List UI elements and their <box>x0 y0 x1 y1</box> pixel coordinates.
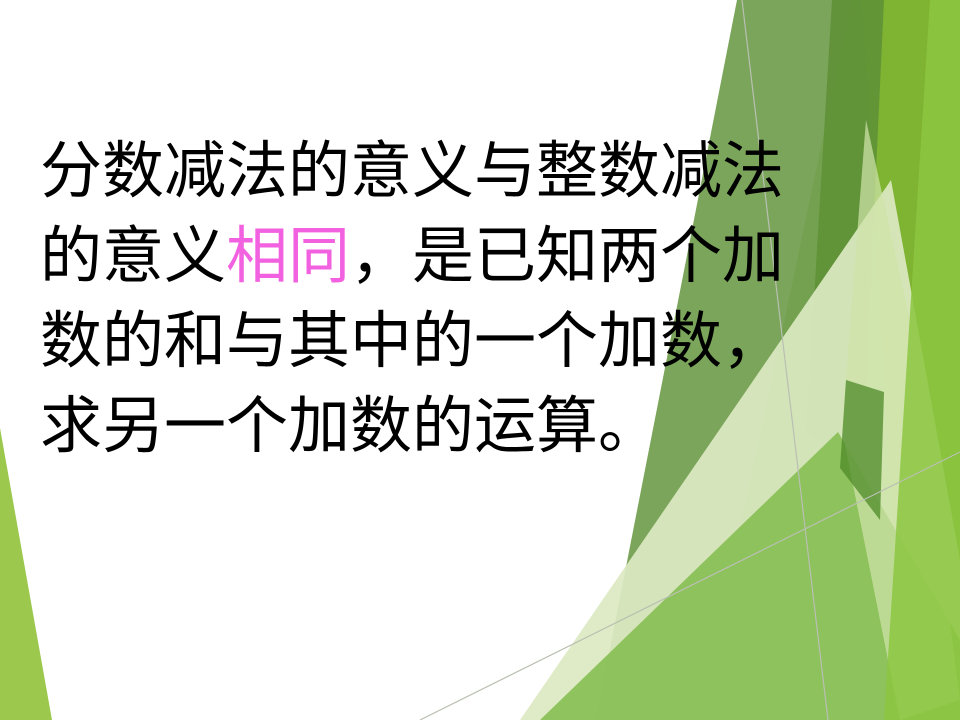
body-line-4: 求另一个加数的运算。 <box>40 383 940 468</box>
body-line-1-text: 分数减法的意义与整数减法 <box>40 134 784 207</box>
slide-canvas: 分数减法的意义与整数减法 的意义相同，是已知两个加 数的和与其中的一个加数， 求… <box>0 0 960 720</box>
body-line-2-text-a: 的意义 <box>40 219 226 292</box>
hairline-diagonal-long <box>420 452 960 720</box>
body-line-3: 数的和与其中的一个加数， <box>40 298 940 383</box>
body-line-2-text-b: ，是已知两个加 <box>350 219 784 292</box>
shape-mid-green-triangle <box>540 432 960 720</box>
body-line-1: 分数减法的意义与整数减法 <box>40 128 940 213</box>
body-line-2-highlight: 相同 <box>226 219 350 292</box>
shape-left-lime-wedge <box>0 428 52 720</box>
body-line-3-text: 数的和与其中的一个加数， <box>40 304 784 377</box>
slide-body-text: 分数减法的意义与整数减法 的意义相同，是已知两个加 数的和与其中的一个加数， 求… <box>40 128 940 468</box>
body-line-4-text: 求另一个加数的运算。 <box>40 389 660 462</box>
body-line-2: 的意义相同，是已知两个加 <box>40 213 940 298</box>
